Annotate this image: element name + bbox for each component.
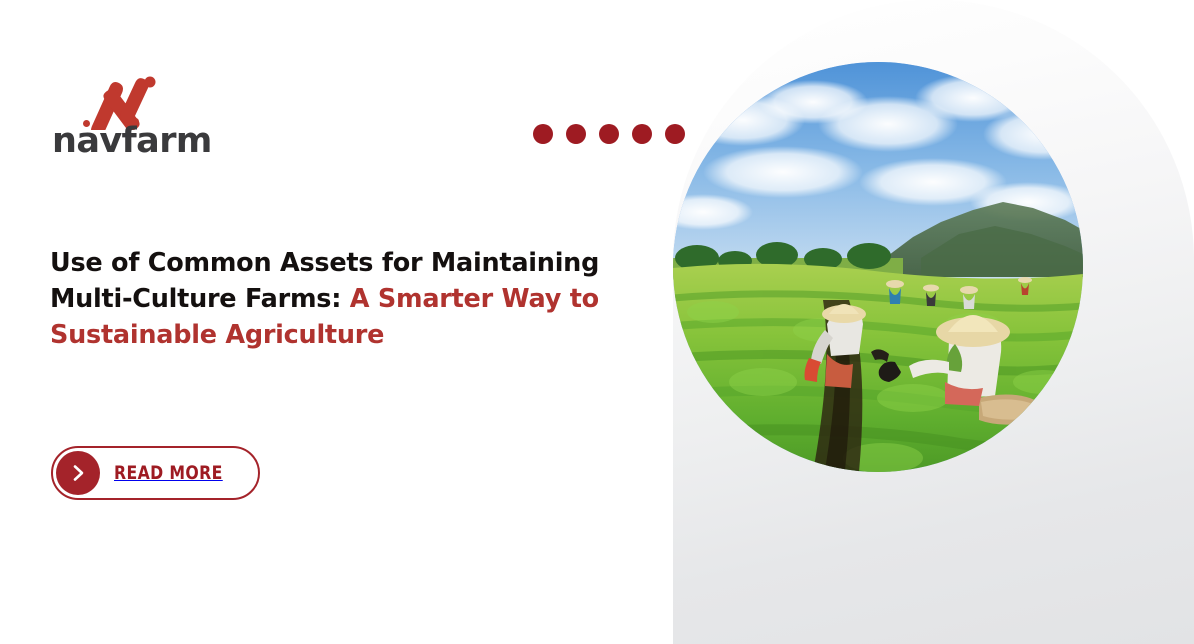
page-title: Use of Common Assets for Maintaining Mul… xyxy=(50,245,610,354)
read-more-label: READ MORE xyxy=(114,462,223,484)
decor-dot-1 xyxy=(533,124,553,144)
wordmark-accent-dots xyxy=(52,124,232,164)
decor-dot-2 xyxy=(566,124,586,144)
tea-plantation-workers-photo xyxy=(673,62,1083,472)
decor-dot-4 xyxy=(632,124,652,144)
decorative-dots-row xyxy=(533,124,685,144)
decor-dot-5 xyxy=(665,124,685,144)
hero-photo-circle xyxy=(673,62,1083,472)
blog-banner: navfarm Use of Common Assets for Maintai… xyxy=(0,0,1194,644)
decor-dot-3 xyxy=(599,124,619,144)
brand-logo[interactable]: navfarm xyxy=(52,72,232,164)
chevron-right-icon xyxy=(56,451,100,495)
read-more-button[interactable]: READ MORE xyxy=(51,446,260,500)
